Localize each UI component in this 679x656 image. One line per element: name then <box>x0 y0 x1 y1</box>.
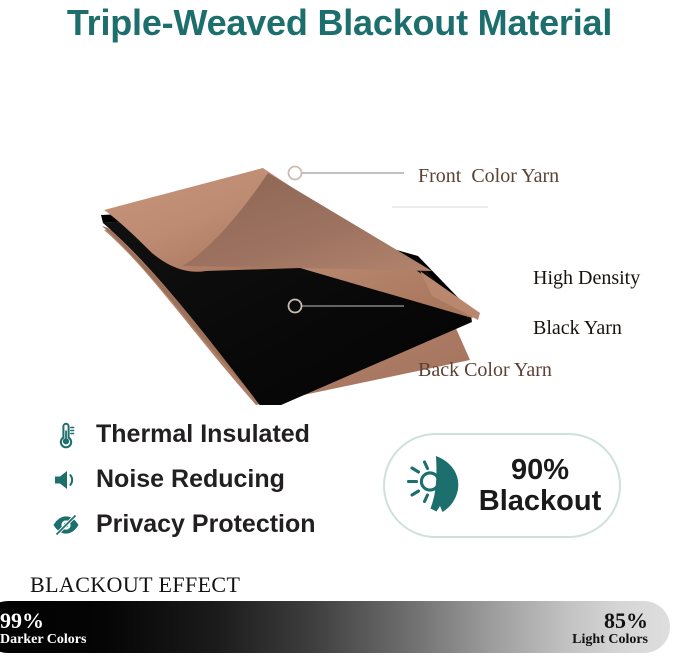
badge-percent: 90% <box>479 455 601 486</box>
callout-leader-black <box>377 200 488 214</box>
bar-left-percent: 99% <box>0 609 86 632</box>
callout-label-back-color-yarn: Back Color Yarn <box>418 358 552 383</box>
feature-list: Thermal Insulated Noise Reducing <box>48 412 378 547</box>
callout-leader-front <box>289 167 405 180</box>
product-infographic: Triple-Weaved Blackout Material <box>0 0 679 656</box>
feature-item-privacy-protection: Privacy Protection <box>48 502 378 547</box>
callout-label-high-density-black-yarn: High Density Black Yarn <box>503 241 640 366</box>
bar-label-darker-colors: 99% Darker Colors <box>0 609 86 648</box>
bar-label-light-colors: 85% Light Colors <box>572 609 648 648</box>
fabric-layers-diagram: Front Color Yarn High Density Black Yarn… <box>0 60 679 405</box>
blackout-effect-heading: BLACKOUT EFFECT <box>30 572 240 598</box>
callout-label-front-color-yarn: Front Color Yarn <box>418 164 559 189</box>
feature-label-privacy-protection: Privacy Protection <box>96 510 316 539</box>
blackout-effect-gradient-bar: 99% Darker Colors 85% Light Colors <box>0 601 670 653</box>
sun-behind-curtain-icon <box>403 453 473 519</box>
bar-right-percent: 85% <box>572 609 648 632</box>
speaker-sound-icon <box>48 462 84 498</box>
bar-right-caption: Light Colors <box>572 632 648 648</box>
bar-left-caption: Darker Colors <box>0 632 86 648</box>
feature-label-noise-reducing: Noise Reducing <box>96 465 285 494</box>
thermometer-icon <box>48 417 84 453</box>
callout-label-line2: Black Yarn <box>533 317 622 339</box>
callout-label-line1: High Density <box>533 267 640 289</box>
page-title: Triple-Weaved Blackout Material <box>0 2 679 44</box>
feature-item-thermal-insulated: Thermal Insulated <box>48 412 378 457</box>
feature-label-thermal-insulated: Thermal Insulated <box>96 420 310 449</box>
blackout-percentage-badge: 90% Blackout <box>383 433 621 538</box>
feature-item-noise-reducing: Noise Reducing <box>48 457 378 502</box>
badge-word: Blackout <box>479 486 601 517</box>
eye-off-icon <box>48 507 84 543</box>
badge-text-block: 90% Blackout <box>479 455 601 516</box>
